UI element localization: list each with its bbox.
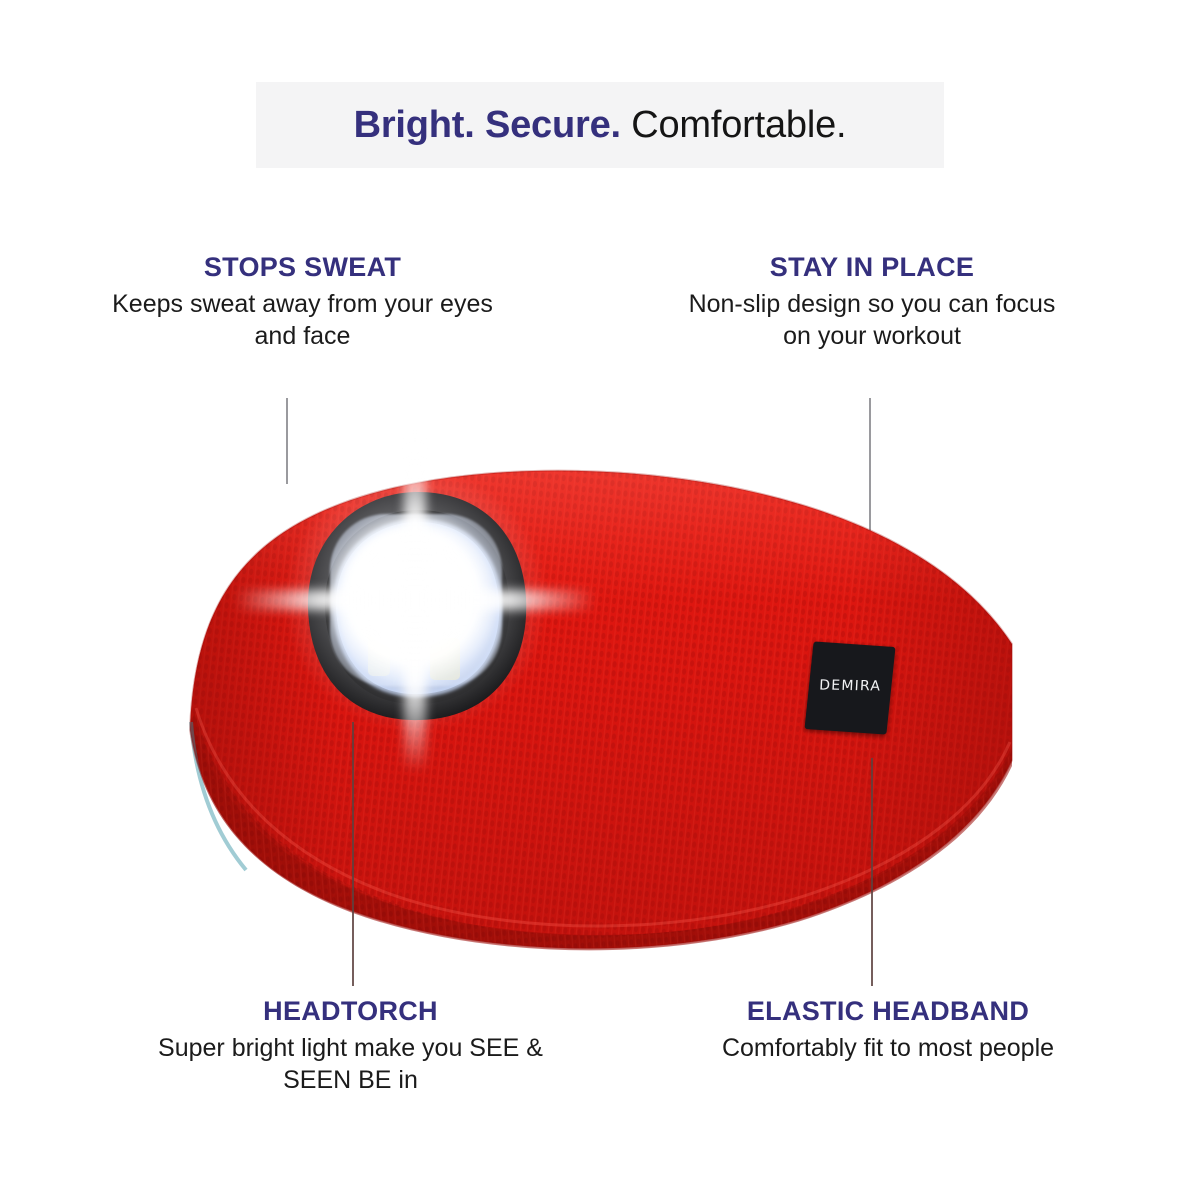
product-image-led-headband: DEMIRA (150, 430, 1050, 1010)
feature-description: Comfortably fit to most people (688, 1033, 1088, 1065)
feature-callout-headtorch: HEADTORCH Super bright light make you SE… (158, 996, 543, 1096)
headband-body (150, 430, 1050, 1010)
page-title: Bright. Secure. Comfortable. (354, 106, 847, 144)
leader-line-elastic-headband (871, 758, 873, 986)
feature-callout-stay-in-place: STAY IN PLACE Non-slip design so you can… (672, 252, 1072, 352)
header-banner: Bright. Secure. Comfortable. (256, 82, 944, 168)
led-headlamp-module (308, 492, 526, 720)
leader-line-headtorch (352, 722, 354, 986)
feature-callout-stops-sweat: STOPS SWEAT Keeps sweat away from your e… (110, 252, 495, 352)
feature-description: Super bright light make you SEE & SEEN B… (158, 1033, 543, 1096)
headband-illustration (150, 430, 1050, 1010)
header-highlight-text: Bright. Secure. (354, 104, 621, 146)
feature-description: Non-slip design so you can focus on your… (672, 289, 1072, 352)
brand-tag: DEMIRA (804, 641, 895, 734)
feature-title: STAY IN PLACE (672, 252, 1072, 282)
feature-description: Keeps sweat away from your eyes and face (110, 289, 495, 352)
feature-title: STOPS SWEAT (110, 252, 495, 282)
header-plain-text: Comfortable. (621, 104, 847, 146)
brand-tag-label: DEMIRA (809, 677, 892, 694)
